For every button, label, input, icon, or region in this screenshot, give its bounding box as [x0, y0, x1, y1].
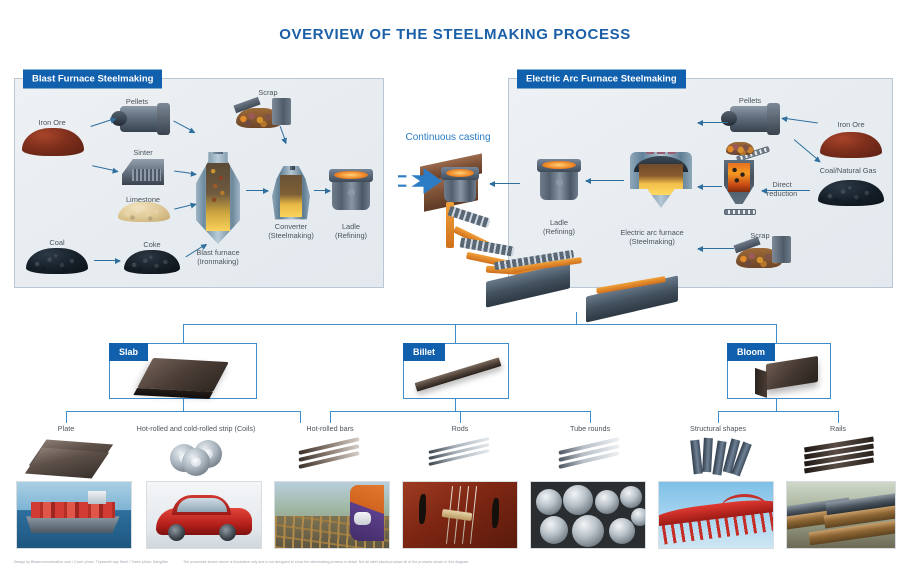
tree-bus — [183, 324, 776, 325]
billet-child-drop-bars — [330, 411, 331, 423]
label-ladle-left-sub: (Refining) — [335, 231, 367, 240]
electric-arc-panel-title: Electric Arc Furnace Steelmaking — [517, 70, 686, 89]
arrow-eaf-to-ladle — [586, 180, 624, 181]
ladle-left — [332, 170, 370, 210]
coke-pile — [124, 250, 180, 274]
footer-disclaimer-text: The processes shown above is illustrativ… — [183, 560, 469, 564]
bloom-shape — [766, 356, 818, 390]
coal-pile-left — [26, 248, 88, 274]
blast-furnace-panel-title: Blast Furnace Steelmaking — [23, 70, 162, 89]
label-iron-ore-right: Iron Ore — [837, 120, 864, 129]
page-title: OVERVIEW OF THE STEELMAKING PROCESS — [0, 26, 910, 43]
scrap-bin-right — [772, 236, 791, 263]
structural-shapes-shape — [690, 438, 748, 476]
label-sinter: Sinter — [133, 148, 152, 157]
bloom-child-drop-shapes — [718, 411, 719, 423]
rails-shape — [804, 442, 874, 470]
plate-label: Plate — [58, 424, 74, 433]
tree-drop-billet — [455, 324, 456, 343]
ladle-right — [540, 160, 578, 200]
bloom-label: Bloom — [727, 343, 775, 361]
label-eaf-sub: (Steelmaking) — [629, 237, 675, 246]
coal-pile-right — [818, 180, 884, 206]
arrow-scrap-to-eaf — [698, 248, 734, 249]
rebar-construction-photo — [274, 481, 390, 549]
billet-drop — [455, 399, 456, 411]
pellets-drum-right — [730, 106, 776, 132]
tree-drop-bloom — [776, 324, 777, 343]
slab-child-drop-plate — [66, 411, 67, 423]
label-blast-furnace: Blast furnace (Ironmaking) — [196, 248, 239, 266]
label-converter-main: Converter — [275, 222, 307, 231]
arrow-coal-to-dri — [762, 190, 810, 191]
dri-output-conveyor — [724, 209, 756, 215]
casting-flow-arrow-white — [386, 172, 420, 190]
rails-label: Rails — [830, 424, 846, 433]
rods-shape — [428, 444, 490, 464]
coils-label: Hot-rolled and cold-rolled strip (Coils) — [137, 424, 256, 433]
continuous-casting-label: Continuous casting — [405, 132, 490, 143]
label-eaf-main: Electric arc furnace — [620, 228, 683, 237]
billet-child-drop-tubes — [590, 411, 591, 423]
footer-credits: Design by Bliaecommunication.com / Cover… — [14, 560, 483, 564]
caster-tundish-ladle — [444, 168, 476, 202]
label-ladle-right-main: Ladle — [550, 218, 568, 227]
tree-trunk — [576, 312, 577, 324]
label-blast-furnace-sub: (Ironmaking) — [197, 257, 238, 266]
iron-ore-pile-right — [820, 132, 882, 158]
label-coal-natural-gas: Coal/Natural Gas — [820, 166, 877, 175]
iron-ore-pile-left — [22, 128, 84, 156]
billet-box[interactable]: Billet — [403, 343, 509, 399]
pellets-drum-left — [120, 106, 166, 132]
label-scrap-left: Scrap — [258, 88, 277, 97]
dri-feed-material — [726, 142, 754, 155]
label-coal-left: Coal — [49, 238, 64, 247]
label-electric-arc-furnace: Electric arc furnace (Steelmaking) — [620, 228, 683, 246]
billet-child-drop-rods — [460, 411, 461, 423]
rail-track-photo — [786, 481, 896, 549]
tube-rounds-label: Tube rounds — [570, 424, 610, 433]
bloom-child-drop-rails — [838, 411, 839, 423]
slab-drop — [183, 399, 184, 411]
label-limestone: Limestone — [126, 195, 160, 204]
limestone-pile — [118, 202, 170, 222]
scrap-bin-left — [272, 98, 291, 125]
arrow-converter-to-ladle — [314, 190, 330, 191]
slab-shape — [137, 358, 229, 392]
tree-drop-slab — [183, 324, 184, 343]
slab-child-drop-coils — [300, 411, 301, 423]
billet-shape — [415, 357, 502, 391]
structural-shapes-label: Structural shapes — [690, 424, 746, 433]
label-converter: Converter (Steelmaking) — [268, 222, 314, 240]
violin-photo — [402, 481, 518, 549]
slab-child-bus — [66, 411, 300, 412]
bloom-box[interactable]: Bloom — [727, 343, 831, 399]
label-direct-reduction-main: Direct — [772, 180, 791, 189]
car-photo — [146, 481, 262, 549]
container-ship-photo — [16, 481, 132, 549]
label-ladle-left: Ladle (Refining) — [335, 222, 367, 240]
billet-label: Billet — [403, 343, 445, 361]
label-scrap-right: Scrap — [750, 231, 769, 240]
arrow-dri-to-eaf — [698, 186, 722, 187]
label-coke: Coke — [143, 240, 160, 249]
label-iron-ore-left: Iron Ore — [38, 118, 65, 127]
arrow-pellets-to-eaf — [698, 122, 728, 123]
red-bridge-photo — [658, 481, 774, 549]
slab-label: Slab — [109, 343, 148, 361]
footer-credit-text: Design by Bliaecommunication.com / Cover… — [14, 560, 168, 564]
steel-tubes-photo — [530, 481, 646, 549]
bloom-child-bus — [718, 411, 838, 412]
label-ladle-right: Ladle (Refining) — [543, 218, 575, 236]
arrow-furnace-to-converter — [246, 190, 268, 191]
label-ladle-left-main: Ladle — [342, 222, 360, 231]
bloom-drop — [776, 399, 777, 411]
rods-label: Rods — [452, 424, 469, 433]
arrow-coal-to-coke — [94, 260, 120, 261]
diagram-canvas: OVERVIEW OF THE STEELMAKING PROCESS Blas… — [0, 0, 910, 582]
label-pellets-left: Pellets — [126, 97, 148, 106]
hot-rolled-bars-shape — [298, 444, 360, 464]
label-converter-sub: (Steelmaking) — [268, 231, 314, 240]
tube-rounds-shape — [558, 444, 620, 464]
arrow-eaf-route-to-caster — [490, 183, 520, 184]
coils-shape — [170, 440, 230, 474]
label-ladle-right-sub: (Refining) — [543, 227, 575, 236]
label-pellets-right: Pellets — [739, 96, 761, 105]
hot-rolled-bars-label: Hot-rolled bars — [306, 424, 353, 433]
slab-box[interactable]: Slab — [109, 343, 257, 399]
